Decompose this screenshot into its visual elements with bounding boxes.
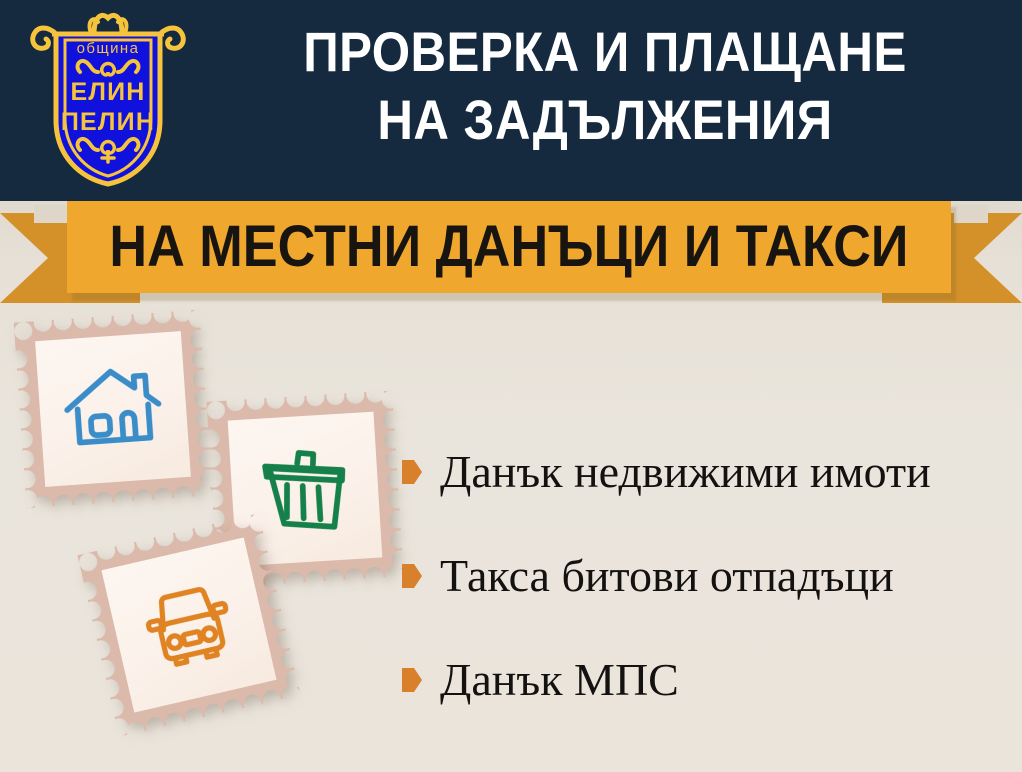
list-item[interactable]: Такса битови отпадъци [402,524,1012,628]
arrow-bullet-icon [402,564,422,588]
subtitle-ribbon: НА МЕСТНИ ДАНЪЦИ И ТАКСИ [0,193,1022,303]
list-item[interactable]: Данък недвижими имоти [402,420,1012,524]
header-band: община ЕЛИН ПЕЛИН ПРОВЕРКА И ПЛАЩАНЕ НА … [0,0,1022,201]
poster-title: ПРОВЕРКА И ПЛАЩАНЕ НА ЗАДЪЛЖЕНИЯ [196,18,1014,154]
logo-text-obshtina: община [77,40,140,57]
title-line-1: ПРОВЕРКА И ПЛАЩАНЕ [245,18,965,86]
header-inner: община ЕЛИН ПЕЛИН ПРОВЕРКА И ПЛАЩАНЕ НА … [0,0,1022,201]
ribbon-fold-right [954,205,988,223]
house-icon [57,353,168,464]
stamp-house [14,310,213,509]
poster-root: община ЕЛИН ПЕЛИН ПРОВЕРКА И ПЛАЩАНЕ НА … [0,0,1022,772]
ribbon-band: НА МЕСТНИ ДАНЪЦИ И ТАКСИ [67,201,951,293]
logo-text-pelin: ПЕЛИН [61,108,155,136]
list-item-label: Такса битови отпадъци [440,551,894,601]
coat-of-arms-icon: община ЕЛИН ПЕЛИН [18,4,198,190]
stamp-paper-house [35,331,191,487]
arrow-bullet-icon [402,460,422,484]
list-item-label: Данък МПС [440,655,679,705]
logo-text-elin: ЕЛИН [70,78,145,106]
ribbon-label: НА МЕСТНИ ДАНЪЦИ И ТАКСИ [109,217,908,277]
trash-bin-icon [250,434,360,544]
list-item-label: Данък недвижими имоти [440,447,931,497]
title-line-2: НА ЗАДЪЛЖЕНИЯ [245,86,965,154]
car-front-icon [127,563,252,688]
municipality-logo: община ЕЛИН ПЕЛИН [18,4,198,190]
tax-types-list: Данък недвижими имоти Такса битови отпад… [402,420,1012,732]
arrow-bullet-icon [402,668,422,692]
ribbon-fold-left [34,205,68,223]
list-item[interactable]: Данък МПС [402,628,1012,732]
